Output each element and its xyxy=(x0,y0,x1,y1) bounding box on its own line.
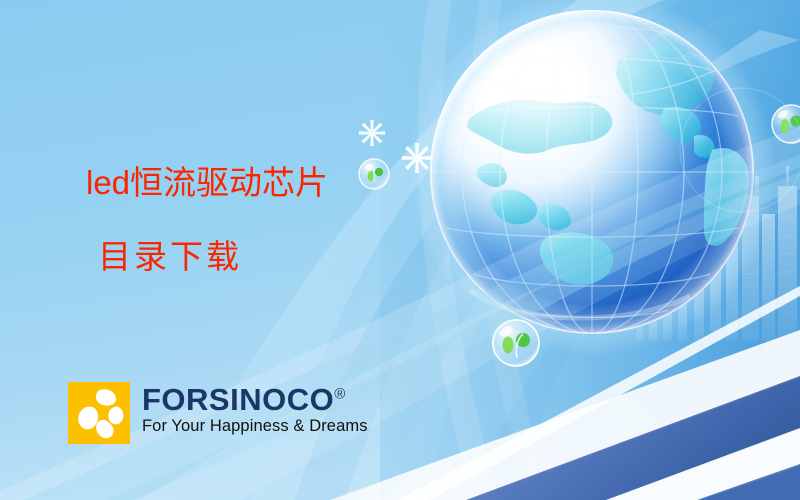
slide-canvas: led恒流驱动芯片 目录下载 FORSINOCO® xyxy=(0,0,800,500)
logo-wordmark-text: FORSINOCO xyxy=(142,382,334,417)
sparkle-star-left xyxy=(359,120,385,146)
sparkle-star-right xyxy=(402,143,432,173)
headline-line-1: led恒流驱动芯片 xyxy=(86,166,328,199)
company-logo[interactable]: FORSINOCO® For Your Happiness & Dreams xyxy=(68,382,368,444)
headline-line-2: 目录下载 xyxy=(98,230,242,278)
four-petal-pinwheel-icon xyxy=(68,382,130,444)
registered-trademark-icon: ® xyxy=(334,386,346,403)
bubble-small-left xyxy=(359,159,389,189)
bubble-mid-bottom xyxy=(493,320,539,366)
logo-wordmark: FORSINOCO® xyxy=(142,384,368,415)
logo-text-block: FORSINOCO® For Your Happiness & Dreams xyxy=(142,382,368,435)
logo-tagline: For Your Happiness & Dreams xyxy=(142,418,368,435)
